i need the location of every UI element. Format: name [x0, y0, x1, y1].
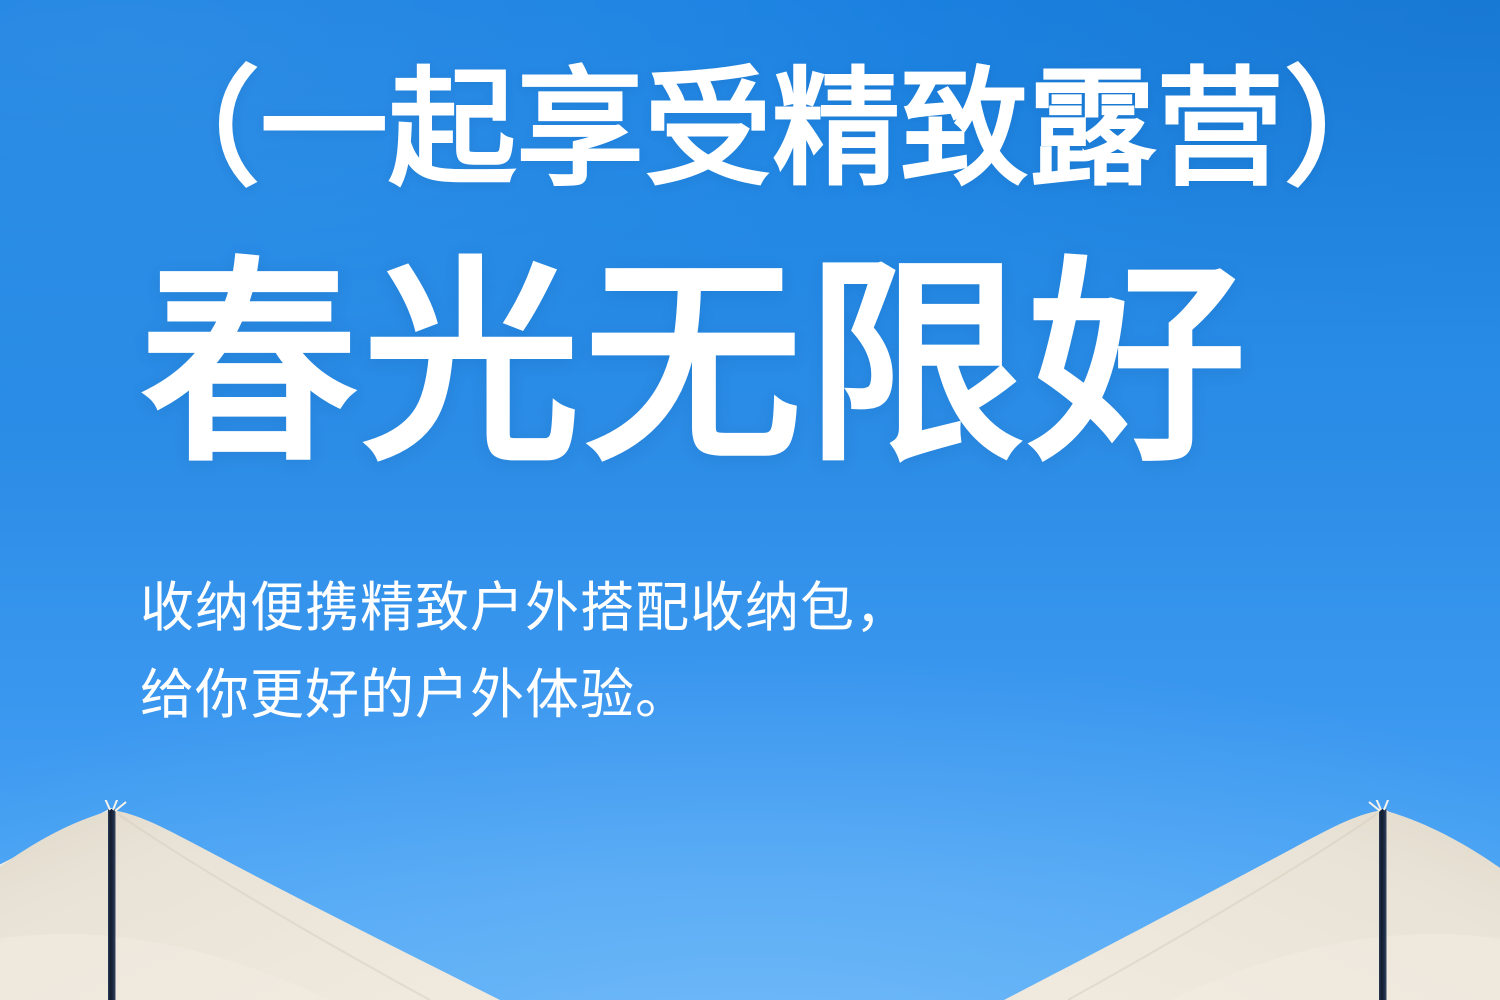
subcopy-line-1: 收纳便携精致户外搭配收纳包，	[140, 565, 1040, 652]
eyebrow-tagline: （一起享受精致露营）	[132, 66, 1332, 194]
subcopy-line-2: 给你更好的户外体验。	[140, 652, 1040, 739]
canopy-illustration	[0, 800, 1500, 1000]
right-pole-tip-strings	[1369, 800, 1390, 811]
right-tent-pole	[1379, 809, 1387, 1000]
subcopy: 收纳便携精致户外搭配收纳包， 给你更好的户外体验。	[140, 565, 1040, 740]
page-title: 春光无限好	[140, 252, 1390, 481]
camping-tarp-canopy	[0, 800, 1500, 1000]
promo-poster: （一起享受精致露营） 春光无限好 收纳便携精致户外搭配收纳包， 给你更好的户外体…	[0, 0, 1500, 1000]
left-tent-pole	[108, 809, 116, 1000]
